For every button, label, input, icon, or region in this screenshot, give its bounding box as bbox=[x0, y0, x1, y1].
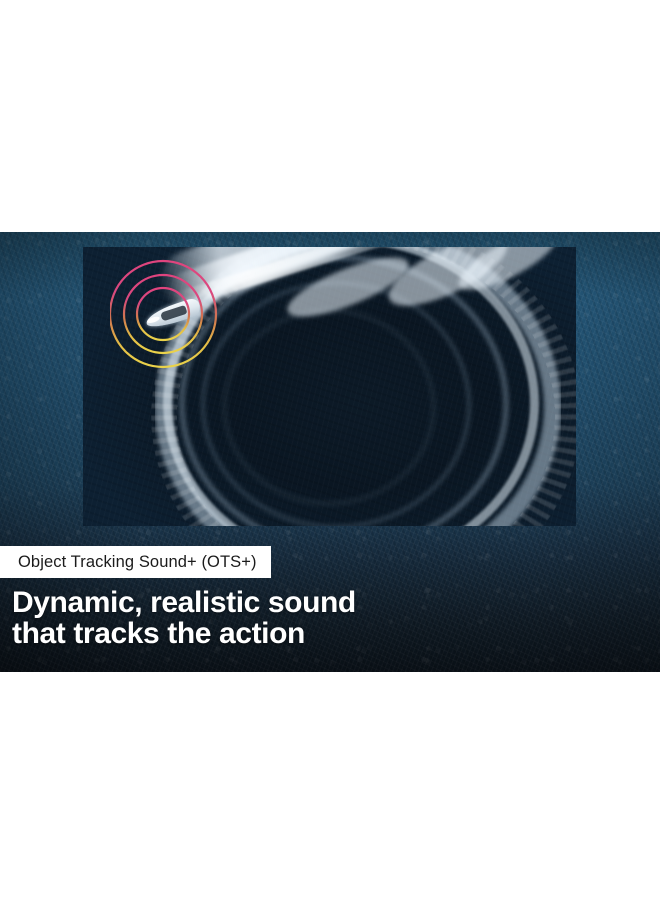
headline: Dynamic, realistic sound that tracks the… bbox=[12, 587, 356, 649]
headline-line-1: Dynamic, realistic sound bbox=[12, 587, 356, 618]
feature-label-text: Object Tracking Sound+ (OTS+) bbox=[18, 553, 257, 572]
product-feature-banner: Object Tracking Sound+ (OTS+) Dynamic, r… bbox=[0, 232, 660, 672]
headline-line-2: that tracks the action bbox=[12, 618, 356, 649]
feature-label-badge: Object Tracking Sound+ (OTS+) bbox=[0, 546, 271, 578]
tv-screen-panel bbox=[83, 247, 576, 526]
boat-wake-inner-ring-2 bbox=[223, 309, 435, 505]
